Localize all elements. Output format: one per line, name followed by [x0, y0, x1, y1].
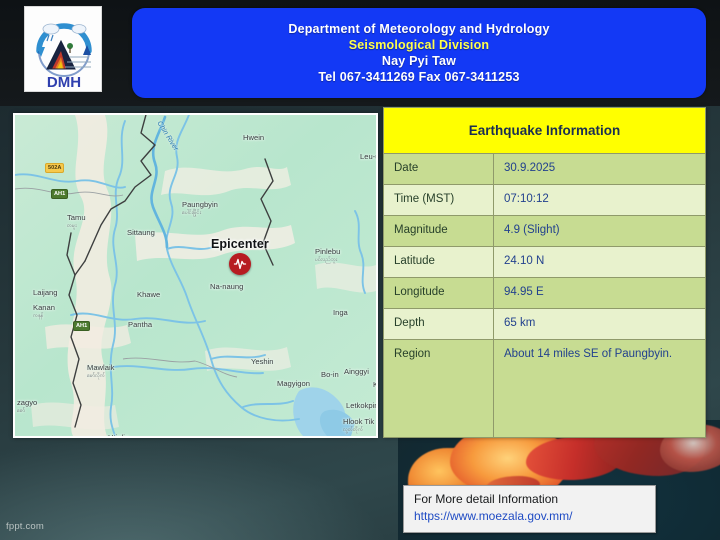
header-banner: Department of Meteorology and Hydrology … [132, 8, 706, 98]
header-line-division: Seismological Division [349, 38, 490, 52]
watermark: fppt.com [6, 521, 44, 532]
dmh-logo-icon: DMH [25, 7, 102, 92]
table-row: Depth 65 km [384, 309, 705, 340]
table-row: Magnitude 4.9 (Slight) [384, 216, 705, 247]
table-title: Earthquake Information [384, 108, 705, 154]
table-cell-value: 24.10 N [494, 247, 705, 277]
table-row: Time (MST) 07:10:12 [384, 185, 705, 216]
seismograph-wave-icon [233, 257, 247, 271]
map-canvas[interactable]: Chin River Hwein Leu-u Paungbyinပေါင်းဗြ… [15, 115, 376, 436]
route-shield-ah1: AH1 [51, 189, 68, 199]
earthquake-information-table: Earthquake Information Date 30.9.2025 Ti… [383, 107, 706, 438]
table-cell-key: Latitude [384, 247, 494, 277]
epicenter-marker-group[interactable]: Epicenter [211, 237, 269, 275]
epicenter-pin-icon[interactable] [229, 253, 251, 275]
dmh-logo-text: DMH [47, 74, 81, 91]
table-cell-value: About 14 miles SE of Paungbyin. [494, 340, 705, 437]
table-cell-value: 30.9.2025 [494, 154, 705, 184]
more-info-link[interactable]: https://www.moezala.gov.mm/ [414, 508, 645, 525]
table-row: Longitude 94.95 E [384, 278, 705, 309]
table-cell-key: Depth [384, 309, 494, 339]
route-shield-502a: 502A [45, 163, 64, 173]
table-row: Region About 14 miles SE of Paungbyin. [384, 340, 705, 437]
header-line-contact: Tel 067-3411269 Fax 067-3411253 [318, 70, 519, 84]
table-cell-key: Time (MST) [384, 185, 494, 215]
epicenter-label: Epicenter [211, 237, 269, 251]
table-cell-value: 07:10:12 [494, 185, 705, 215]
more-info-label: For More detail Information [414, 491, 645, 508]
table-cell-key: Date [384, 154, 494, 184]
more-info-box: For More detail Information https://www.… [403, 485, 656, 533]
table-cell-value: 65 km [494, 309, 705, 339]
table-cell-value: 4.9 (Slight) [494, 216, 705, 246]
map-terrain-graphic [15, 115, 376, 436]
table-cell-key: Magnitude [384, 216, 494, 246]
route-shield-ah1: AH1 [73, 321, 90, 331]
header-line-city: Nay Pyi Taw [382, 54, 456, 68]
table-row: Date 30.9.2025 [384, 154, 705, 185]
table-cell-key: Region [384, 340, 494, 437]
table-body: Date 30.9.2025 Time (MST) 07:10:12 Magni… [384, 154, 705, 437]
header-line-department: Department of Meteorology and Hydrology [288, 22, 549, 36]
epicenter-map[interactable]: Chin River Hwein Leu-u Paungbyinပေါင်းဗြ… [13, 113, 378, 438]
table-cell-value: 94.95 E [494, 278, 705, 308]
dmh-logo: DMH [24, 6, 102, 92]
table-row: Latitude 24.10 N [384, 247, 705, 278]
table-cell-key: Longitude [384, 278, 494, 308]
